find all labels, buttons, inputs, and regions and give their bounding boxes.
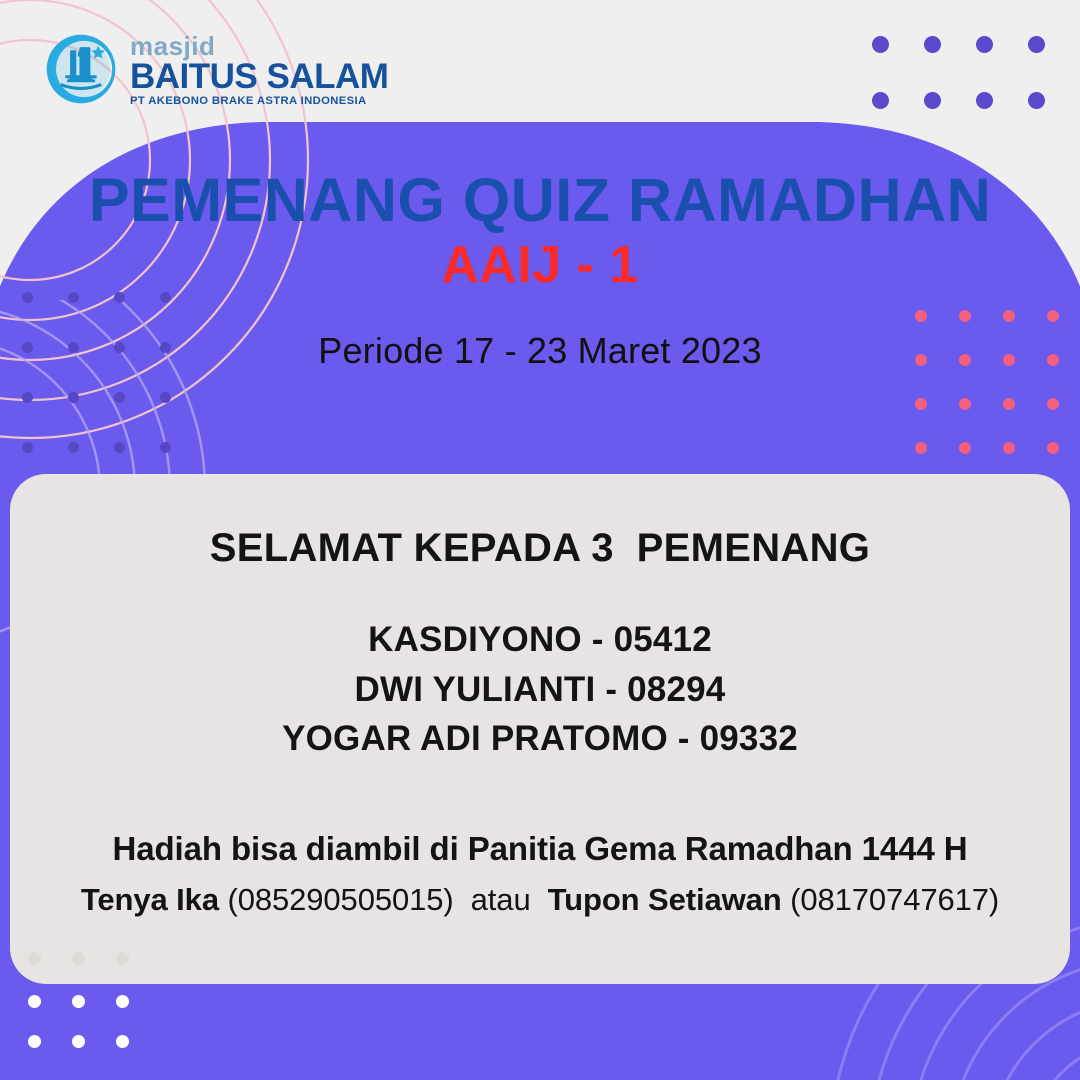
contact-conjunction: atau xyxy=(471,882,531,917)
contact-phone-1-value: (085290505015) xyxy=(227,882,453,917)
winners-card: SELAMAT KEPADA 3 PEMENANG KASDIYONO - 05… xyxy=(10,474,1070,984)
winner-item: KASDIYONO - 05412 xyxy=(10,615,1070,665)
contact-name-1: Tenya Ika xyxy=(81,882,219,917)
header-block: PEMENANG QUIZ RAMADHAN AAIJ - 1 Periode … xyxy=(0,168,1080,372)
logo-company: PT AKEBONO BRAKE ASTRA INDONESIA xyxy=(130,96,388,107)
pickup-note: Hadiah bisa diambil di Panitia Gema Rama… xyxy=(10,830,1070,868)
congratulations-heading: SELAMAT KEPADA 3 PEMENANG xyxy=(10,526,1070,571)
logo-masjid-label: masjid xyxy=(130,33,388,59)
contact-phone-2-value: (08170747617) xyxy=(790,882,999,917)
winners-list: KASDIYONO - 05412 DWI YULIANTI - 08294 Y… xyxy=(10,615,1070,764)
page-subtitle: AAIJ - 1 xyxy=(0,236,1080,296)
brand-logo: masjid BAITUS SALAM PT AKEBONO BRAKE AST… xyxy=(42,30,388,108)
contact-name-2: Tupon Setiawan xyxy=(548,882,782,917)
winner-item: YOGAR ADI PRATOMO - 09332 xyxy=(10,714,1070,764)
winner-item: DWI YULIANTI - 08294 xyxy=(10,665,1070,715)
mosque-crescent-icon xyxy=(42,30,120,108)
page-title: PEMENANG QUIZ RAMADHAN xyxy=(0,168,1080,232)
poster-canvas: masjid BAITUS SALAM PT AKEBONO BRAKE AST… xyxy=(0,0,1080,1080)
dot-grid-card-bottom xyxy=(28,952,160,984)
logo-name: BAITUS SALAM xyxy=(130,60,388,93)
contact-line: Tenya Ika (085290505015) atau Tupon Seti… xyxy=(10,882,1070,918)
period-label: Periode 17 - 23 Maret 2023 xyxy=(0,330,1080,372)
